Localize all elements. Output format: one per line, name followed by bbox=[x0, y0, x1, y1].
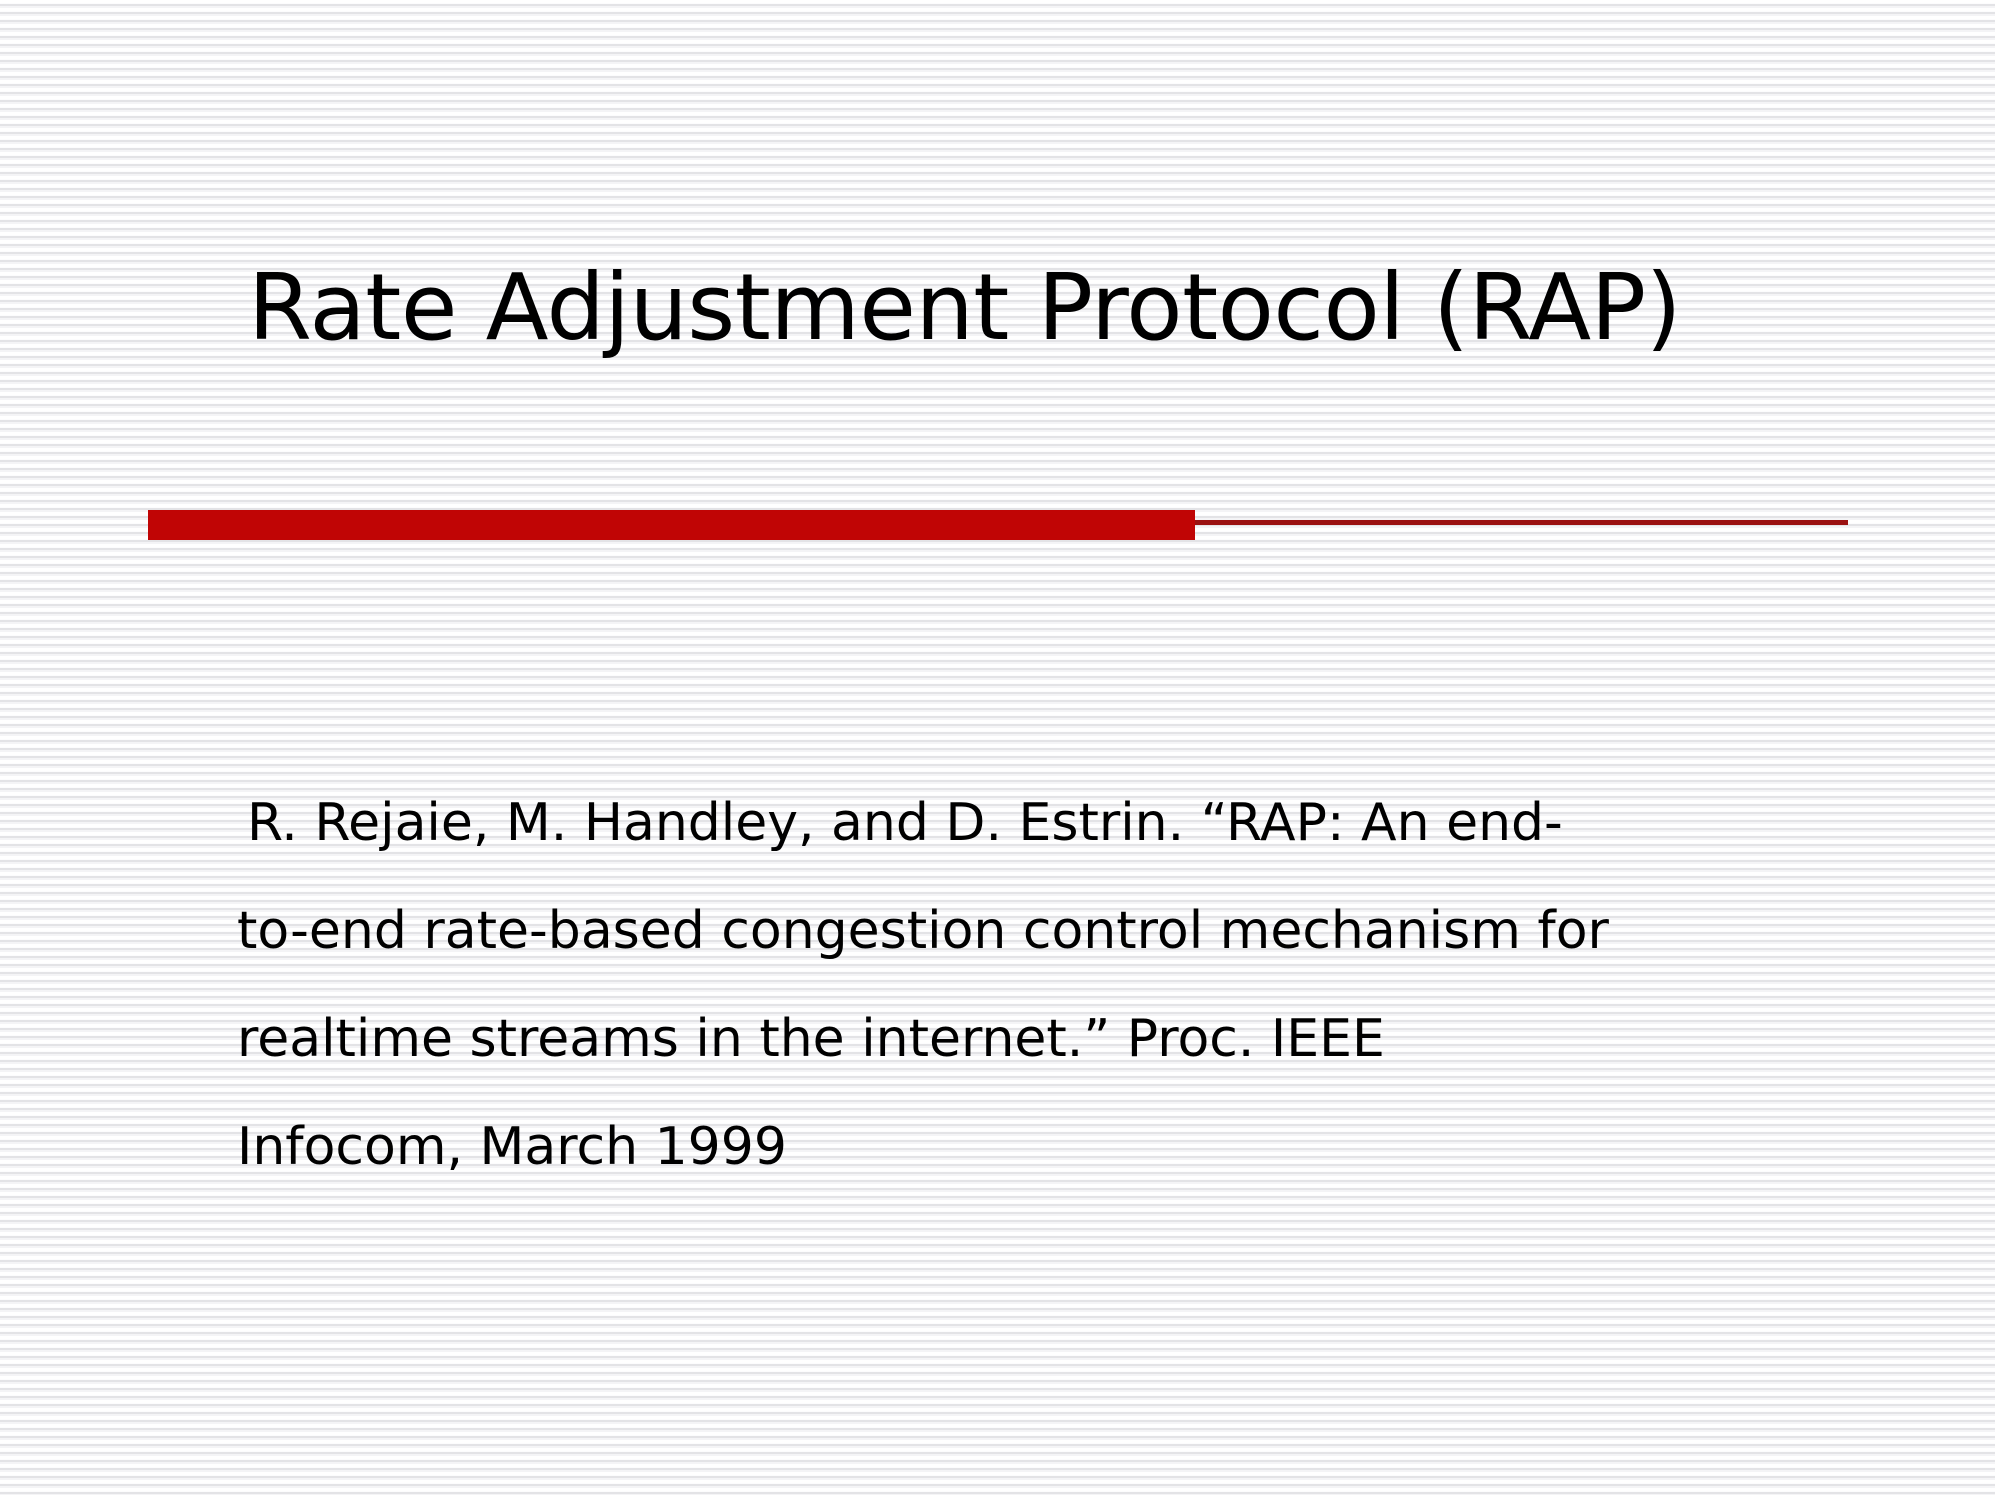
page-title: Rate Adjustment Protocol (RAP) bbox=[248, 258, 1747, 357]
citation-line-2: to-end rate-based congestion control mec… bbox=[237, 904, 1757, 958]
presentation-slide: Rate Adjustment Protocol (RAP) R. Rejaie… bbox=[0, 0, 1995, 1495]
title-block: Rate Adjustment Protocol (RAP) bbox=[0, 196, 1995, 419]
divider-thick-bar bbox=[148, 510, 1195, 540]
citation-line-3: realtime streams in the internet.” Proc.… bbox=[237, 1012, 1757, 1066]
citation-block: R. Rejaie, M. Handley, and D. Estrin. “R… bbox=[237, 742, 1757, 1228]
citation-line-1: R. Rejaie, M. Handley, and D. Estrin. “R… bbox=[237, 796, 1757, 850]
red-accent-divider bbox=[148, 510, 1848, 540]
citation-line-4: Infocom, March 1999 bbox=[237, 1120, 1757, 1174]
citation-text: R. Rejaie, M. Handley, and D. Estrin. “R… bbox=[237, 742, 1757, 1228]
